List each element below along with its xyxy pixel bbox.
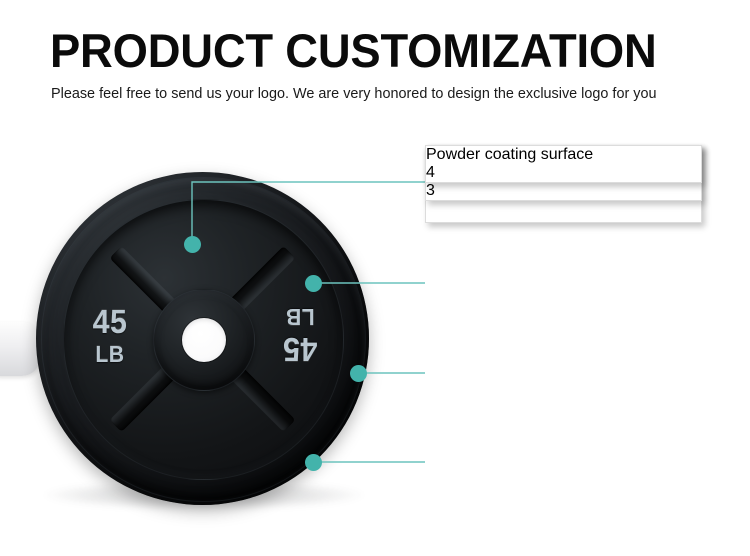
corner-fold-badge: 3 bbox=[426, 182, 701, 200]
product-customization-banner: PRODUCT CUSTOMIZATION Please feel free t… bbox=[0, 0, 750, 556]
weight-plate: 45 LB 45 LB bbox=[36, 172, 369, 505]
plate-weight-value-right: 45 bbox=[271, 333, 330, 366]
feature-card-list: Precoated sand technology, the surface i… bbox=[425, 145, 703, 505]
plate-center-hole bbox=[182, 318, 226, 362]
product-image: 45 LB 45 LB bbox=[0, 150, 420, 550]
header: PRODUCT CUSTOMIZATION Please feel free t… bbox=[0, 0, 750, 120]
feature-card-number: 3 bbox=[426, 182, 701, 200]
plate-weight-unit-left: LB bbox=[81, 343, 140, 366]
plate-weight-value-left: 45 bbox=[81, 305, 140, 338]
barbell-bar-stub bbox=[0, 322, 40, 376]
feature-card[interactable]: Powder coating surface 4 bbox=[425, 145, 702, 183]
feature-card-text: Powder coating surface bbox=[426, 146, 701, 164]
callout-dot-2[interactable] bbox=[305, 275, 322, 292]
plate-weight-unit-right: LB bbox=[271, 305, 330, 328]
callout-dot-4[interactable] bbox=[305, 454, 322, 471]
callout-dot-1[interactable] bbox=[184, 236, 201, 253]
corner-fold-badge: 4 bbox=[426, 164, 701, 182]
callout-dot-3[interactable] bbox=[350, 365, 367, 382]
page-subtitle: Please feel free to send us your logo. W… bbox=[51, 84, 710, 103]
page-title: PRODUCT CUSTOMIZATION bbox=[50, 26, 697, 76]
plate-hub bbox=[153, 289, 255, 391]
plate-label-left: 45 LB bbox=[78, 305, 142, 366]
plate-label-right: 45 LB bbox=[268, 305, 332, 366]
feature-card-number: 4 bbox=[426, 164, 701, 182]
